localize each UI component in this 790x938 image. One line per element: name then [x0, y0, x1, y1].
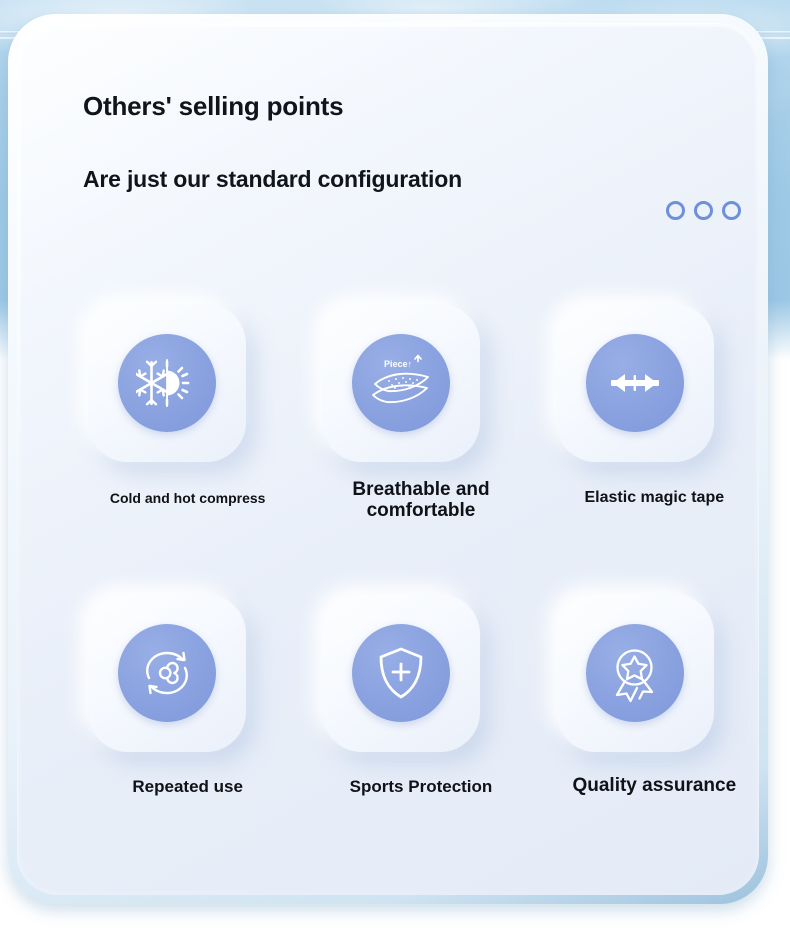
- feature-tile[interactable]: [556, 594, 714, 752]
- feature-tile[interactable]: [556, 304, 714, 462]
- feature-item[interactable]: Piece↑: [304, 289, 537, 579]
- page-subtitle: Are just our standard configuration: [83, 166, 462, 193]
- cold-hot-compress-icon: [136, 352, 198, 414]
- feature-icon-circle: [118, 334, 216, 432]
- repeated-use-icon: [136, 644, 198, 702]
- feature-item[interactable]: Cold and hot compress: [71, 289, 304, 579]
- feature-tile[interactable]: [322, 594, 480, 752]
- heading-block: Others' selling points Are just our stan…: [83, 91, 462, 193]
- feature-icon-circle: [586, 624, 684, 722]
- feature-tile[interactable]: Piece↑: [322, 304, 480, 462]
- quality-assurance-icon: [605, 643, 665, 703]
- sports-protection-icon: [374, 644, 428, 702]
- card-frame: Others' selling points Are just our stan…: [8, 14, 768, 904]
- content-panel: Others' selling points Are just our stan…: [21, 27, 755, 891]
- feature-tile[interactable]: [88, 594, 246, 752]
- feature-item[interactable]: Elastic magic tape: [538, 289, 755, 579]
- feature-icon-circle: [118, 624, 216, 722]
- feature-item[interactable]: Repeated use: [71, 579, 304, 869]
- feature-label: Repeated use: [71, 777, 304, 796]
- feature-label: Breathable and comfortable: [304, 479, 537, 522]
- feature-item[interactable]: Quality assurance: [538, 579, 755, 869]
- feature-label: Quality assurance: [538, 775, 755, 796]
- elastic-magic-tape-icon: [603, 363, 667, 403]
- dot-icon: [666, 201, 685, 220]
- feature-icon-circle: [586, 334, 684, 432]
- breathable-fabric-icon: Piece↑: [364, 352, 438, 414]
- feature-icon-circle: [352, 624, 450, 722]
- feature-label: Cold and hot compress: [71, 491, 304, 507]
- feature-tile[interactable]: [88, 304, 246, 462]
- feature-grid: Cold and hot compress Piece↑: [71, 289, 755, 869]
- feature-item[interactable]: Sports Protection: [304, 579, 537, 869]
- fabric-icon-text: Piece↑: [384, 359, 412, 369]
- card-frame-inner: Others' selling points Are just our stan…: [17, 23, 759, 895]
- feature-icon-circle: Piece↑: [352, 334, 450, 432]
- dots-decoration: [666, 201, 741, 220]
- feature-label: Sports Protection: [304, 777, 537, 796]
- dot-icon: [722, 201, 741, 220]
- page-title: Others' selling points: [83, 91, 462, 122]
- feature-label: Elastic magic tape: [538, 489, 755, 507]
- dot-icon: [694, 201, 713, 220]
